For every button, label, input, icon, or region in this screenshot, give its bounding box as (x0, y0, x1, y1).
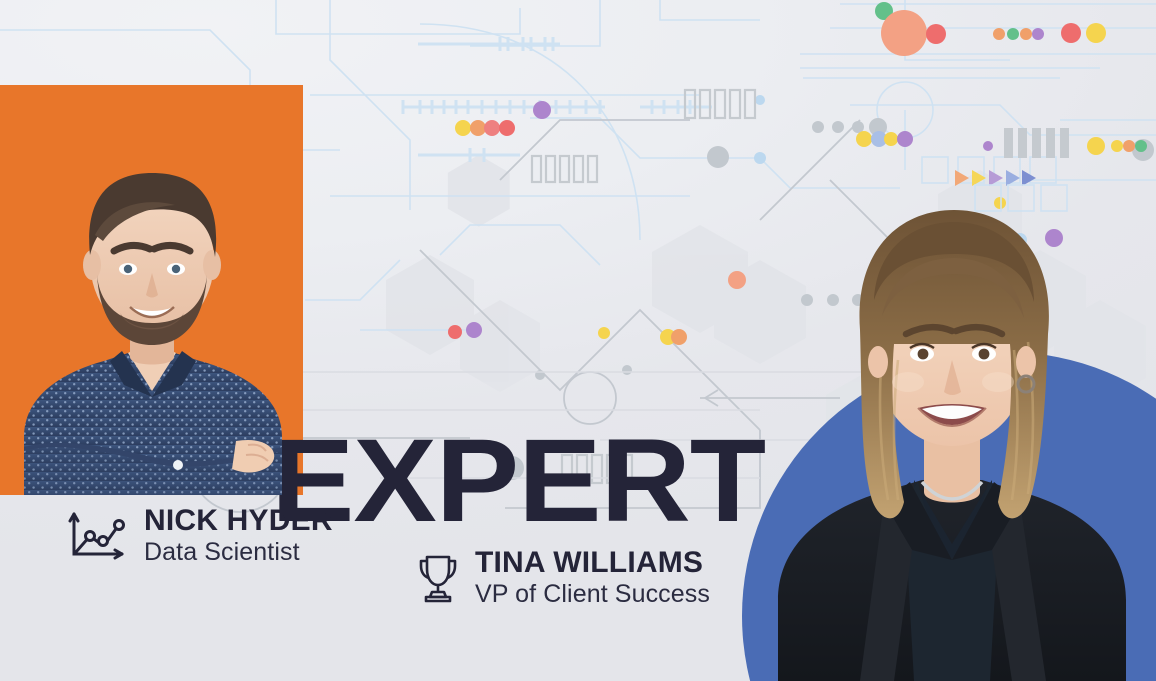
line-chart-icon (66, 510, 130, 562)
speaker-name: TINA WILLIAMS (475, 547, 710, 579)
speaker-photo-nick-hyder (0, 85, 345, 495)
speaker-block-nick-hyder: NICK HYDER Data Scientist (66, 505, 333, 567)
speaker-role: Data Scientist (144, 537, 333, 567)
expert-insights-banner: EXPERT INSIGHTS (0, 0, 1156, 681)
tick-bar-group (403, 37, 712, 162)
speaker-role: VP of Client Success (475, 579, 710, 609)
trophy-icon (415, 550, 461, 606)
speaker-name: NICK HYDER (144, 505, 333, 537)
speaker-block-tina-williams: TINA WILLIAMS VP of Client Success (415, 547, 710, 609)
speaker-photo-tina-williams (742, 130, 1156, 681)
